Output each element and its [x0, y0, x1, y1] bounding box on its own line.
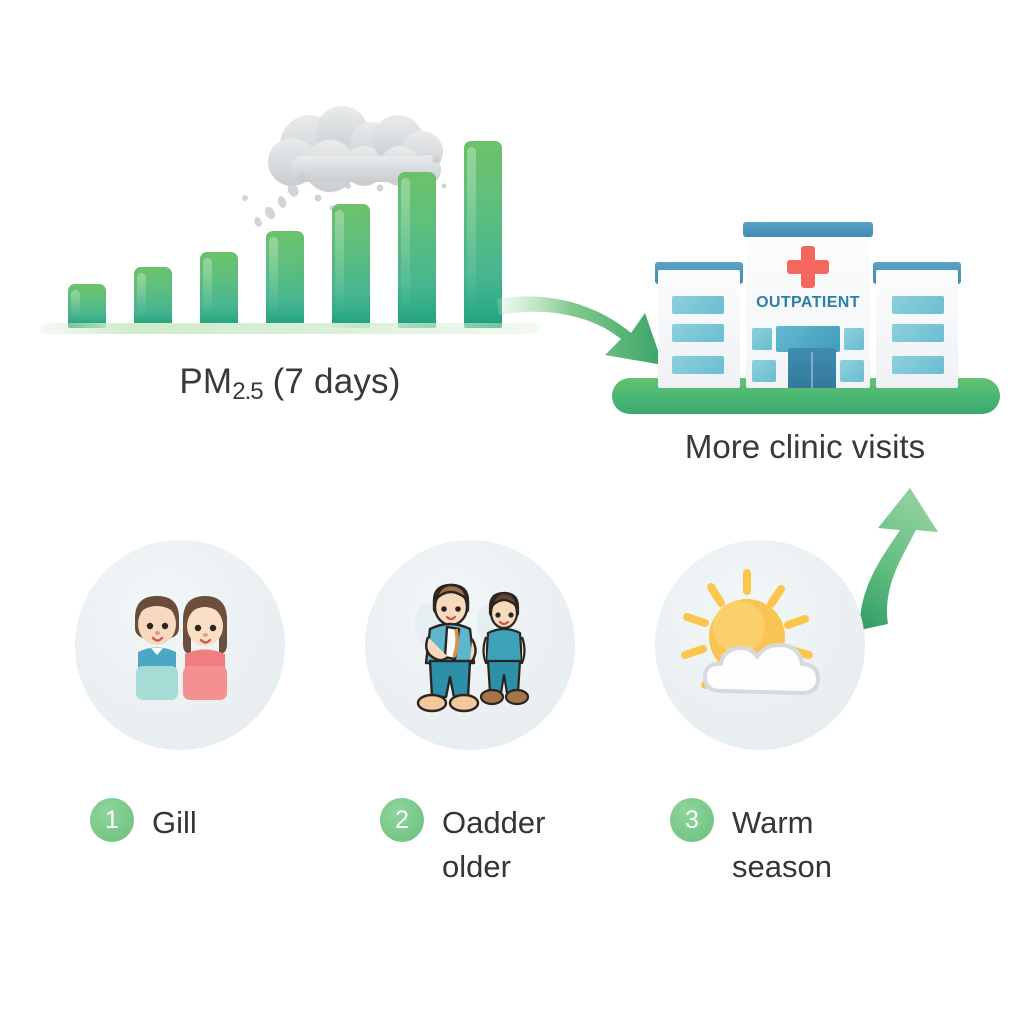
window [892, 324, 944, 342]
factor-1-text: Gill [152, 798, 197, 845]
chart-caption: PM2.5 (7 days) [40, 362, 540, 406]
clinic-caption: More clinic visits [600, 428, 1010, 466]
window [752, 328, 772, 350]
bar-day-1 [68, 284, 106, 328]
right-wing [876, 270, 958, 388]
window [672, 296, 724, 314]
window [840, 360, 864, 382]
chart-caption-subscript: 2.5 [232, 378, 262, 405]
factor-1-label: 1 Gill [90, 798, 197, 845]
factor-1-circle [75, 540, 285, 750]
chart-caption-tail: (7 days) [263, 362, 401, 401]
bar-day-3 [200, 252, 238, 328]
factor-2-text: Oadder older [442, 798, 545, 889]
factor-3-circle [655, 540, 865, 750]
left-wing [658, 270, 740, 388]
bar-group [68, 128, 518, 328]
bar-day-6 [398, 172, 436, 328]
two-children-standing-icon [390, 565, 550, 725]
factor-2-label: 2 Oadder older [380, 798, 545, 889]
clinic-block: OUTPATIENT More clinic visits [600, 200, 1010, 490]
factor-2-circle [365, 540, 575, 750]
chart-caption-main: PM [179, 362, 232, 401]
factor-3-label: 3 Warm season [670, 798, 832, 889]
infographic-canvas: PM2.5 (7 days) [0, 0, 1024, 1024]
bar-day-2 [134, 267, 172, 328]
red-cross-icon-bar [787, 260, 829, 274]
factor-card-1: 1 Gill [30, 540, 330, 750]
window [892, 296, 944, 314]
factor-3-text: Warm season [732, 798, 832, 889]
factor-1-badge: 1 [90, 798, 134, 842]
factor-card-2: 2 Oadder older [320, 540, 620, 750]
factor-card-3: 3 Warm season [610, 540, 910, 750]
bar-day-4 [266, 231, 304, 328]
window [892, 356, 944, 374]
tower-roof [743, 222, 873, 237]
two-people-icon [105, 570, 255, 720]
entrance-door [788, 348, 836, 388]
window [672, 356, 724, 374]
sun-behind-cloud-icon [675, 565, 845, 725]
outpatient-sign: OUTPATIENT [746, 294, 870, 312]
window [752, 360, 776, 382]
window [672, 324, 724, 342]
factor-2-badge: 2 [380, 798, 424, 842]
outpatient-building: OUTPATIENT [658, 218, 958, 388]
pm25-chart-block: PM2.5 (7 days) [40, 100, 540, 420]
window [844, 328, 864, 350]
factor-3-badge: 3 [670, 798, 714, 842]
bar-day-5 [332, 204, 370, 328]
chart-baseline [40, 323, 540, 334]
